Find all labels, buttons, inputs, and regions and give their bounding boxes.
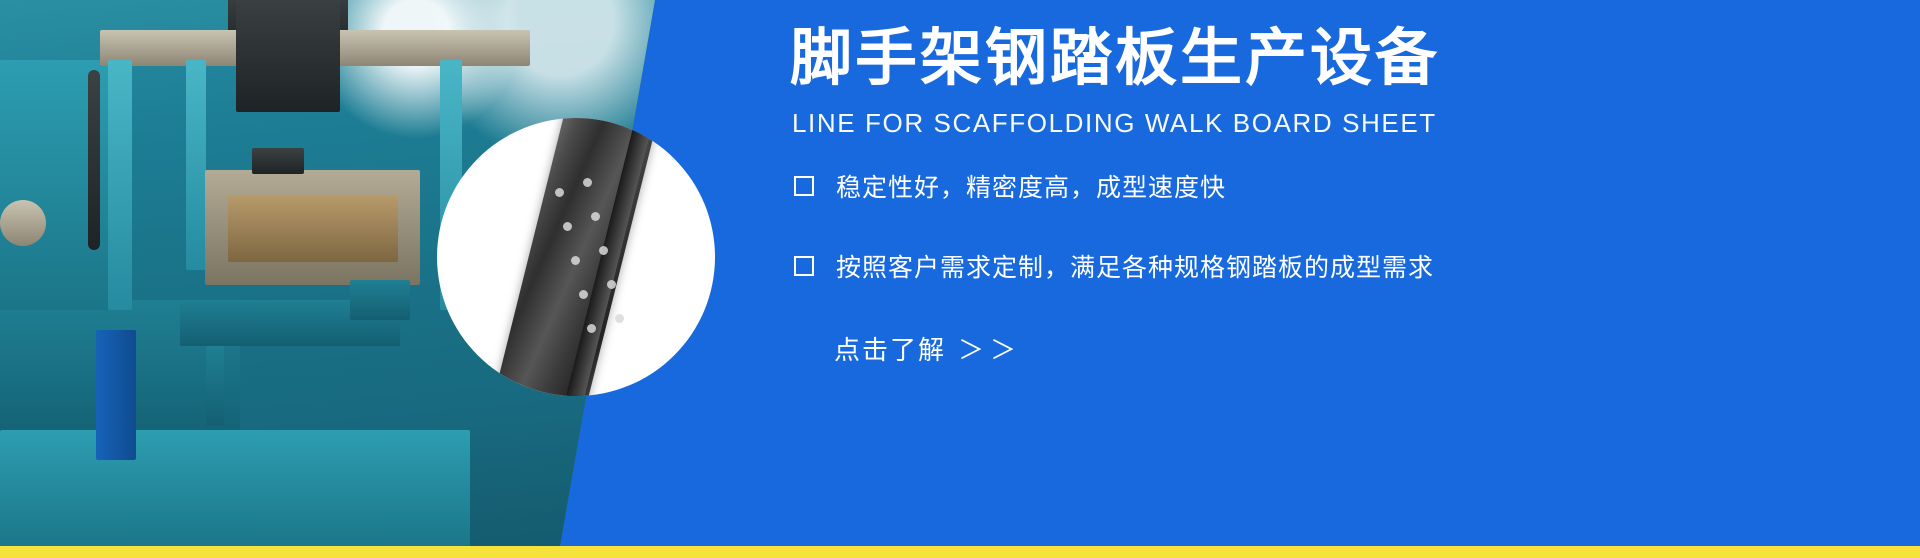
cta-label: 点击了解 [834, 335, 946, 365]
feature-list: 稳定性好，精密度高，成型速度快 按照客户需求定制，满足各种规格钢踏板的成型需求 [794, 168, 1854, 328]
product-photo-inset [437, 118, 715, 396]
feature-text: 稳定性好，精密度高，成型速度快 [836, 168, 1226, 204]
banner-content: 脚手架钢踏板生产设备 LINE FOR SCAFFOLDING WALK BOA… [790, 0, 1900, 546]
accent-strip [0, 546, 1920, 558]
feature-text: 按照客户需求定制，满足各种规格钢踏板的成型需求 [836, 248, 1434, 284]
checkbox-square-icon [794, 256, 814, 276]
page-subtitle: LINE FOR SCAFFOLDING WALK BOARD SHEET [792, 108, 1437, 139]
promo-banner: 脚手架钢踏板生产设备 LINE FOR SCAFFOLDING WALK BOA… [0, 0, 1920, 558]
learn-more-link[interactable]: 点击了解＞＞ [834, 330, 1022, 367]
page-title: 脚手架钢踏板生产设备 [790, 28, 1440, 90]
list-item: 按照客户需求定制，满足各种规格钢踏板的成型需求 [794, 248, 1854, 284]
list-item: 稳定性好，精密度高，成型速度快 [794, 168, 1854, 204]
double-chevron-right-icon: ＞＞ [958, 335, 1022, 365]
checkbox-square-icon [794, 176, 814, 196]
